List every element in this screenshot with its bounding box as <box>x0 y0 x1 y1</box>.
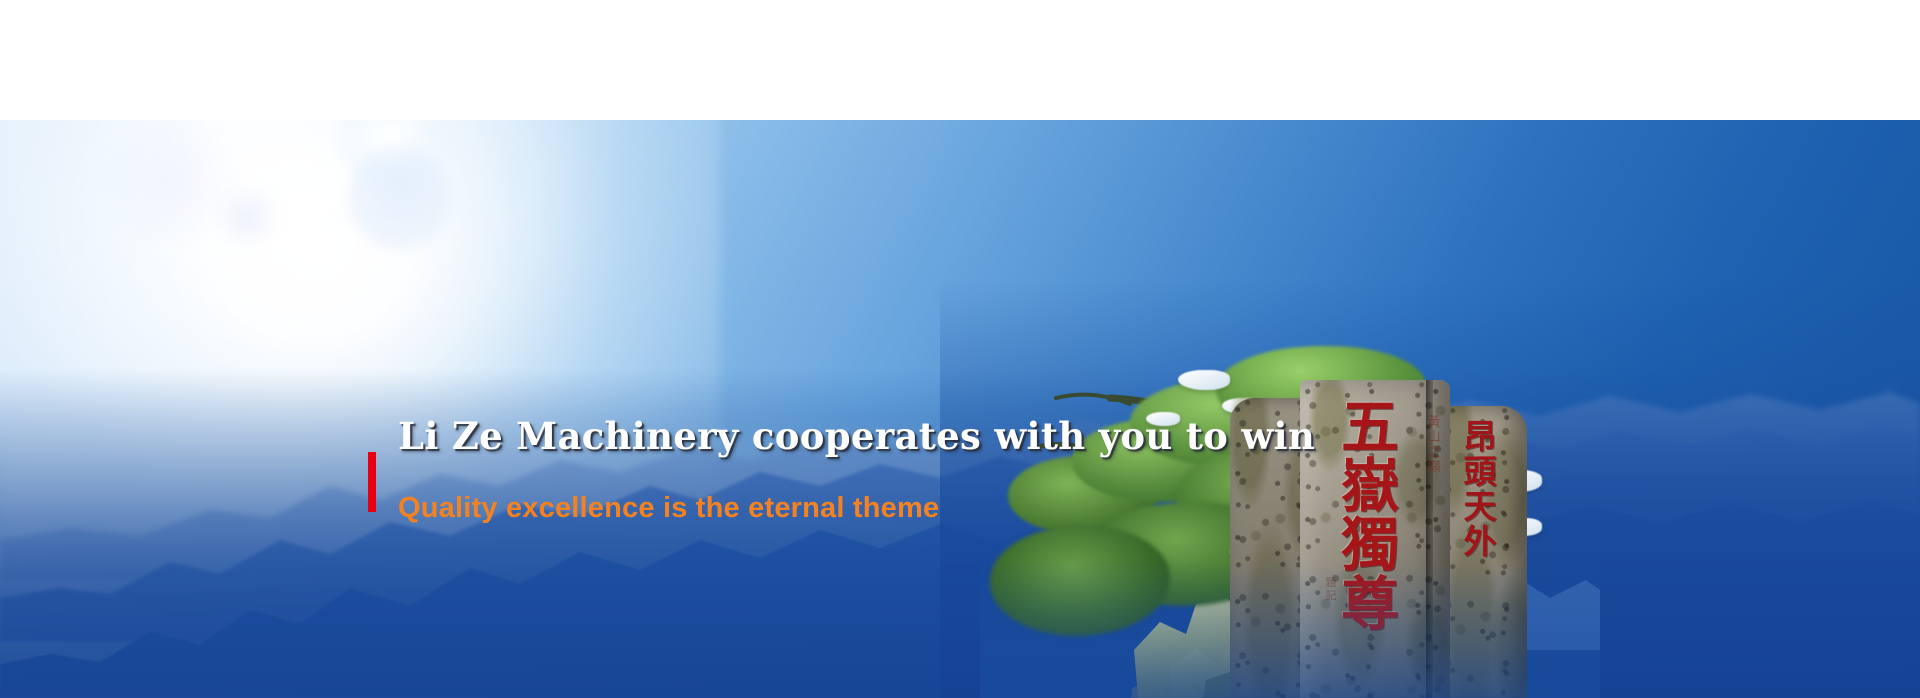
stele-glyph: 五 <box>1341 398 1399 457</box>
stele-glyph: 巔 <box>1427 460 1440 475</box>
stone-stele: 五 嶽 獨 尊 黃 山 之 巔 題 記 <box>1300 380 1450 698</box>
mountain-photo-inset: 昂 頭 天 外 五 嶽 獨 尊 黃 山 之 <box>980 280 1600 698</box>
stele-glyph: 題 <box>1326 576 1337 589</box>
stele-glyph: 尊 <box>1341 575 1399 634</box>
stele-glyph: 之 <box>1427 445 1440 460</box>
stele-faint-inscription: 黃 山 之 巔 <box>1420 416 1448 476</box>
hero-headline: Li Ze Machinery cooperates with you to w… <box>398 416 1315 457</box>
stele-glyph: 獨 <box>1341 516 1399 575</box>
lens-flare-icon <box>345 144 453 252</box>
stele-glyph: 黃 <box>1427 415 1440 430</box>
hero-banner: 昂 頭 天 外 五 嶽 獨 尊 黃 山 之 <box>0 120 1920 698</box>
stele-glyph: 嶽 <box>1341 457 1399 516</box>
snow-patch <box>1178 370 1230 390</box>
hero-subheadline: Quality excellence is the eternal theme <box>398 492 939 525</box>
stele-glyph: 昂 <box>1464 417 1497 456</box>
stele-side-inscription: 昂 頭 天 外 <box>1452 420 1508 560</box>
stele-glyph: 記 <box>1326 589 1337 602</box>
stele-glyph: 天 <box>1464 487 1497 526</box>
accent-bar <box>368 452 376 512</box>
stele-glyph: 頭 <box>1464 452 1497 491</box>
top-white-band <box>0 0 1920 120</box>
stele-faint-inscription-small: 題 記 <box>1320 576 1342 602</box>
stele-glyph: 山 <box>1427 430 1440 445</box>
lens-flare-icon <box>96 120 246 246</box>
banner-page: 昂 頭 天 外 五 嶽 獨 尊 黃 山 之 <box>0 0 1920 698</box>
stele-glyph: 外 <box>1464 522 1497 561</box>
